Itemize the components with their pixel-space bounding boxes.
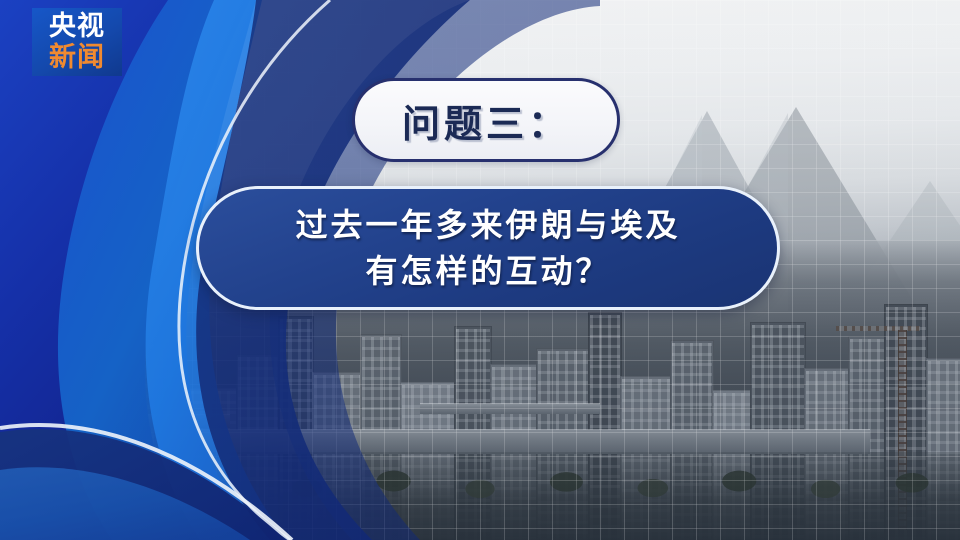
logo-line-news: 新闻 (49, 42, 105, 73)
cctv-news-logo[interactable]: 央视 新闻 (32, 8, 122, 76)
question-line-2: 有怎样的互动？ (365, 249, 610, 293)
question-number-pill: 问题三： (352, 78, 620, 162)
question-text-box: 过去一年多来伊朗与埃及 有怎样的互动？ (196, 186, 780, 310)
logo-line-cctv: 央视 (49, 11, 105, 42)
question-line-1: 过去一年多来伊朗与埃及 (295, 203, 680, 247)
slide-canvas: 央视 新闻 问题三： 过去一年多来伊朗与埃及 有怎样的互动？ (0, 0, 960, 540)
question-number-label: 问题三： (402, 93, 570, 148)
